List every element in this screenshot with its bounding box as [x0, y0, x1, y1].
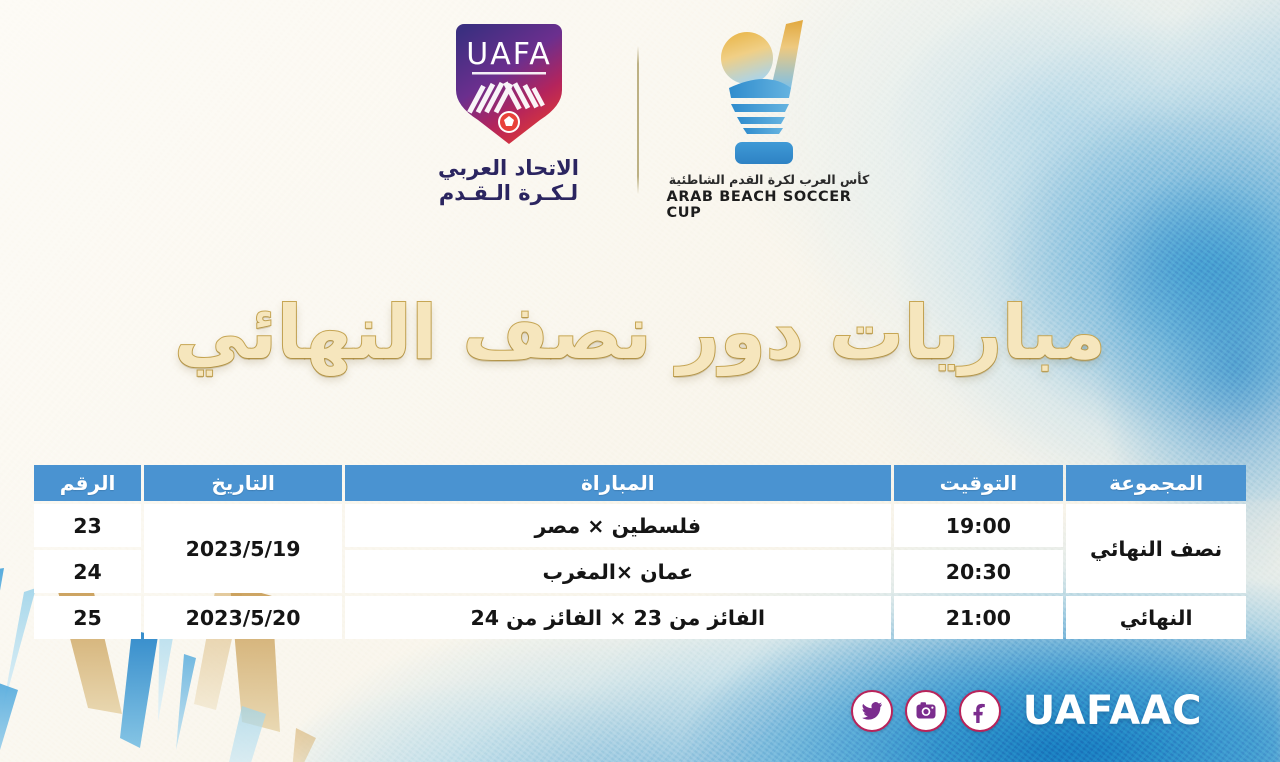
cell-date-1: 2023/5/19 — [144, 504, 342, 593]
header-date: التاريخ — [144, 465, 342, 501]
cell-match-1: فلسطين × مصر — [345, 504, 890, 547]
schedule-table-wrapper: المجموعة التوقيت المباراة التاريخ الرقم … — [31, 462, 1249, 642]
cell-match-3: الفائز من 23 × الفائز من 24 — [345, 596, 890, 639]
logo-row: كأس العرب لكرة القدم الشاطئية ARAB BEACH… — [0, 18, 1280, 228]
cell-time-3: 21:00 — [894, 596, 1064, 639]
uafa-shield-icon: UAFA — [450, 18, 568, 150]
logo-divider — [637, 46, 639, 194]
social-handle: UAFAAC — [1023, 688, 1202, 734]
twitter-icon[interactable] — [851, 690, 893, 732]
uafa-caption-line2: لـكـرة الـقـدم — [438, 181, 579, 206]
cell-number-1: 23 — [34, 504, 141, 547]
uafa-caption-line1: الاتحاد العربي — [438, 156, 579, 181]
cell-time-2: 20:30 — [894, 550, 1064, 593]
absc-caption-arabic: كأس العرب لكرة القدم الشاطئية — [669, 172, 869, 187]
header-group: المجموعة — [1066, 465, 1246, 501]
cell-match-2: عمان ×المغرب — [345, 550, 890, 593]
cell-number-3: 25 — [34, 596, 141, 639]
cell-time-1: 19:00 — [894, 504, 1064, 547]
cell-group-semifinal: نصف النهائي — [1066, 504, 1246, 593]
trophy-icon — [685, 18, 853, 168]
table-header-row: المجموعة التوقيت المباراة التاريخ الرقم — [34, 465, 1246, 501]
uafa-caption: الاتحاد العربي لـكـرة الـقـدم — [438, 156, 579, 206]
page-title: مباريات دور نصف النهائي — [0, 292, 1280, 375]
instagram-icon[interactable] — [905, 690, 947, 732]
uafa-logo: UAFA الاتحاد العربي لـكـرة ا — [409, 18, 609, 206]
arab-beach-soccer-cup-logo: كأس العرب لكرة القدم الشاطئية ARAB BEACH… — [667, 18, 872, 221]
schedule-table: المجموعة التوقيت المباراة التاريخ الرقم … — [31, 462, 1249, 642]
header-match: المباراة — [345, 465, 890, 501]
facebook-icon[interactable] — [959, 690, 1001, 732]
poster-root: كأس العرب لكرة القدم الشاطئية ARAB BEACH… — [0, 0, 1280, 762]
table-row: نصف النهائي 19:00 فلسطين × مصر 2023/5/19… — [34, 504, 1246, 547]
table-row: النهائي 21:00 الفائز من 23 × الفائز من 2… — [34, 596, 1246, 639]
svg-text:UAFA: UAFA — [466, 37, 552, 72]
cell-group-final: النهائي — [1066, 596, 1246, 639]
header-time: التوقيت — [894, 465, 1064, 501]
social-footer: UAFAAC — [851, 688, 1202, 734]
header-number: الرقم — [34, 465, 141, 501]
cell-number-2: 24 — [34, 550, 141, 593]
absc-caption-english: ARAB BEACH SOCCER CUP — [667, 189, 872, 221]
cell-date-3: 2023/5/20 — [144, 596, 342, 639]
